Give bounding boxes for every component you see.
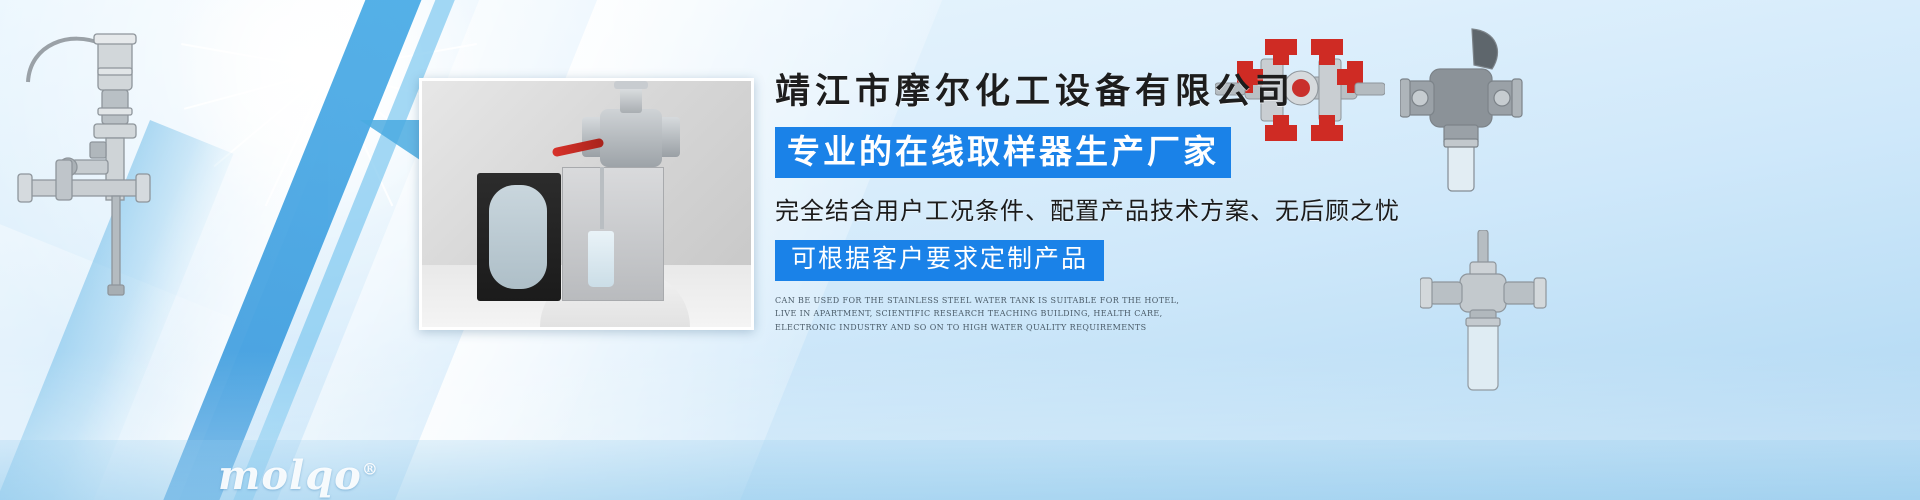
center-product-photo [419,78,754,330]
photo-valve-cap [614,81,648,89]
banner-text-block: 靖江市摩尔化工设备有限公司 专业的在线取样器生产厂家 完全结合用户工况条件、配置… [775,72,1395,334]
right-product-image-2 [1400,25,1530,200]
custom-badge: 可根据客户要求定制产品 [775,240,1104,281]
photo-cabinet-window [489,185,547,289]
company-name: 靖江市摩尔化工设备有限公司 [775,72,1395,112]
left-product-image [10,20,170,310]
brand-watermark: molqo® [218,452,379,499]
photo-valve-body [600,109,662,167]
photo-sample-bottle [588,231,614,287]
watermark-text: molqo [218,452,362,499]
english-description: CAN BE USED FOR THE STAINLESS STEEL WATE… [775,294,1195,334]
registered-mark-icon: ® [362,460,379,479]
subline-text: 完全结合用户工况条件、配置产品技术方案、无后顾之忧 [775,191,1395,226]
promo-banner: 靖江市摩尔化工设备有限公司 专业的在线取样器生产厂家 完全结合用户工况条件、配置… [0,0,1920,500]
photo-cabinet-door [477,173,561,301]
photo-sample-tube [600,167,604,229]
right-product-image-3 [1420,230,1550,405]
photo-valve-stem [620,85,642,113]
headline-highlight: 专业的在线取样器生产厂家 [775,127,1231,178]
